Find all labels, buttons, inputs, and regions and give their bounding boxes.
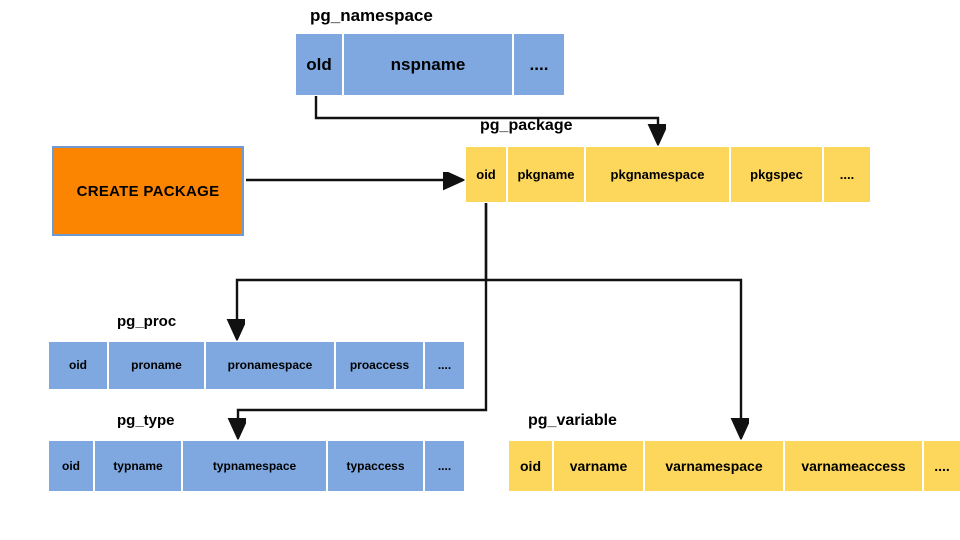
table-cell: pkgspec xyxy=(730,146,823,203)
table-cell: proaccess xyxy=(335,341,424,390)
table-pg-type: oid typname typnamespace typaccess .... xyxy=(48,440,465,492)
connector-package-to-type xyxy=(238,203,486,433)
table-cell: pkgnamespace xyxy=(585,146,730,203)
table-cell: .... xyxy=(923,440,960,492)
table-cell: proname xyxy=(108,341,205,390)
table-cell: typname xyxy=(94,440,182,492)
connector-package-to-proc xyxy=(237,203,486,334)
table-cell: pkgname xyxy=(507,146,585,203)
table-cell: varnamespace xyxy=(644,440,784,492)
table-title-pg-variable: pg_variable xyxy=(528,412,617,430)
table-cell: varname xyxy=(553,440,644,492)
table-cell: nspname xyxy=(343,33,513,96)
table-title-pg-namespace: pg_namespace xyxy=(310,6,433,26)
connector-package-to-variable xyxy=(486,280,741,433)
process-box-create-package[interactable]: CREATE PACKAGE xyxy=(52,146,244,236)
table-cell: oid xyxy=(508,440,553,492)
table-cell: pronamespace xyxy=(205,341,335,390)
table-cell: oid xyxy=(48,341,108,390)
table-cell: .... xyxy=(424,341,465,390)
table-pg-package: oid pkgname pkgnamespace pkgspec .... xyxy=(465,146,871,203)
table-pg-proc: oid proname pronamespace proaccess .... xyxy=(48,341,465,390)
table-cell: typaccess xyxy=(327,440,424,492)
table-cell: old xyxy=(295,33,343,96)
table-cell: oid xyxy=(48,440,94,492)
diagram-canvas: pg_namespace old nspname .... CREATE PAC… xyxy=(0,0,960,540)
table-cell: .... xyxy=(823,146,871,203)
table-title-pg-type: pg_type xyxy=(117,412,175,429)
table-pg-variable: oid varname varnamespace varnameaccess .… xyxy=(508,440,960,492)
table-pg-namespace: old nspname .... xyxy=(295,33,565,96)
table-cell: varnameaccess xyxy=(784,440,923,492)
table-cell: typnamespace xyxy=(182,440,327,492)
table-title-pg-proc: pg_proc xyxy=(117,313,176,330)
table-title-pg-package: pg_package xyxy=(480,117,572,135)
table-cell: oid xyxy=(465,146,507,203)
table-cell: .... xyxy=(513,33,565,96)
table-cell: .... xyxy=(424,440,465,492)
